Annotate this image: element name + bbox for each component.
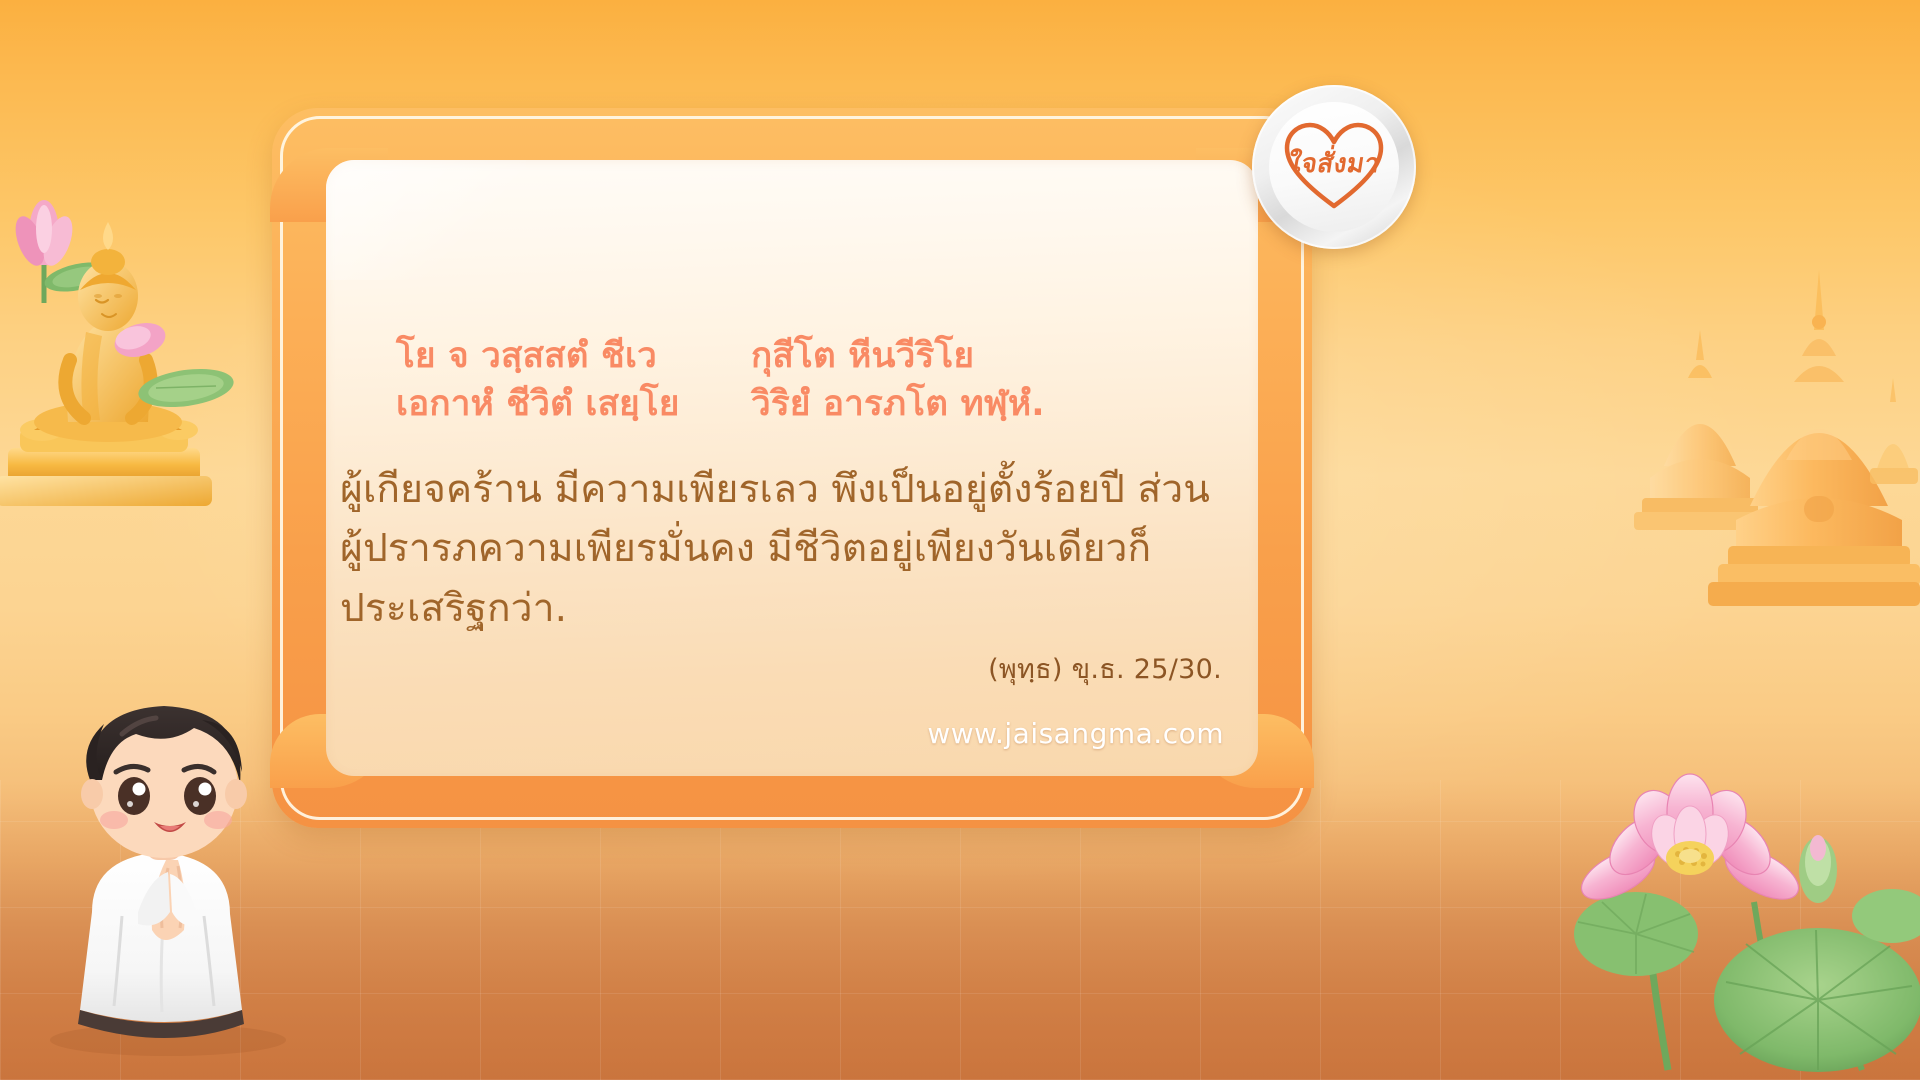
logo-inner-circle: ใจสั่งมา bbox=[1269, 102, 1399, 232]
quote-card: โย จ วสฺสสตํ ชีเว กุสีโต หีนวีริโย เอกาห… bbox=[272, 108, 1312, 828]
translation-line-1: ผู้เกียจคร้าน มีความเพียรเลว พึงเป็นอยู่… bbox=[340, 460, 1236, 519]
brand-logo-badge[interactable]: ใจสั่งมา bbox=[1252, 85, 1416, 249]
source-attribution: (พุทฺธ) ขุ.ธ. 25/30. bbox=[988, 647, 1222, 690]
website-url[interactable]: www.jaisangma.com bbox=[927, 717, 1224, 750]
stupa-pagoda-icon bbox=[1590, 210, 1920, 640]
thai-translation: ผู้เกียจคร้าน มีความเพียรเลว พึงเป็นอยู่… bbox=[340, 460, 1236, 638]
buddha-statue-icon bbox=[0, 190, 240, 520]
pali-line-1-right: กุสีโต หีนวีริโย bbox=[751, 332, 1208, 380]
pali-line-2-left: เอกาหํ ชีวิตํ เสยฺโย bbox=[396, 380, 751, 428]
pali-line-2: เอกาหํ ชีวิตํ เสยฺโย วิริยํ อารภโต ทฬฺหํ… bbox=[396, 380, 1208, 428]
pali-verse: โย จ วสฺสสตํ ชีเว กุสีโต หีนวีริโย เอกาห… bbox=[396, 332, 1208, 429]
card-inner-panel: โย จ วสฺสสตํ ชีเว กุสีโต หีนวีริโย เอกาห… bbox=[326, 160, 1258, 776]
pali-line-1: โย จ วสฺสสตํ ชีเว กุสีโต หีนวีริโย bbox=[396, 332, 1208, 380]
poster-canvas: โย จ วสฺสสตํ ชีเว กุสีโต หีนวีริโย เอกาห… bbox=[0, 0, 1920, 1080]
lotus-flower-icon bbox=[1550, 720, 1920, 1080]
translation-line-2: ผู้ปรารภความเพียรมั่นคง มีชีวิตอยู่เพียง… bbox=[340, 519, 1236, 578]
translation-line-3: ประเสริฐกว่า. bbox=[340, 579, 1236, 638]
logo-label: ใจสั่งมา bbox=[1286, 143, 1384, 184]
pali-line-2-right: วิริยํ อารภโต ทฬฺหํ. bbox=[751, 380, 1208, 428]
praying-boy-icon bbox=[18, 662, 308, 1062]
pali-line-1-left: โย จ วสฺสสตํ ชีเว bbox=[396, 332, 751, 380]
